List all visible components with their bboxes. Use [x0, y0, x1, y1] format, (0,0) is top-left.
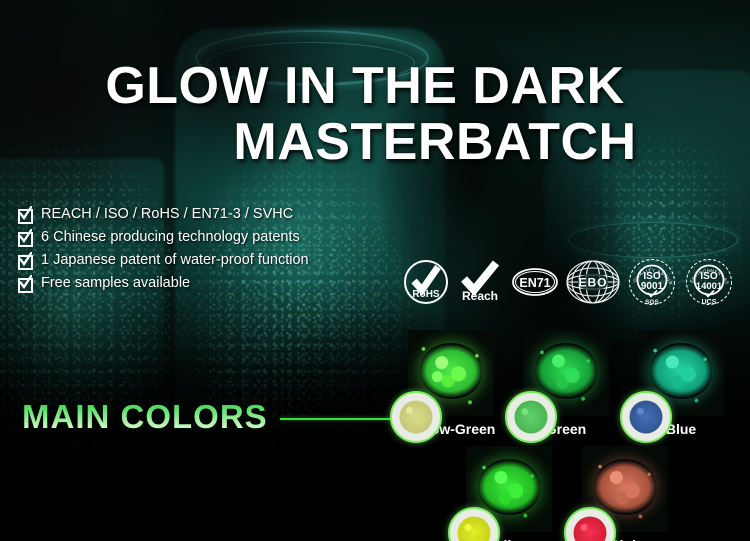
svg-text:Reach: Reach	[462, 289, 498, 303]
svg-text:EN71: EN71	[519, 276, 550, 290]
list-item-label: 6 Chinese producing technology patents	[41, 229, 300, 245]
iso-14001-badge-icon: ENVIRONMENT ASSURANCE ISO 14001 UCS	[684, 257, 734, 312]
pellet-closeup-circle	[390, 391, 442, 443]
svg-text:UCS: UCS	[702, 299, 717, 306]
color-swatch-grid: Yellow-Green Green Blue	[386, 330, 750, 541]
main-colors-heading: MAIN COLORS	[22, 398, 404, 436]
checkbox-checked-icon	[18, 209, 33, 224]
color-swatch-pink[interactable]: Pink	[582, 446, 668, 541]
pellet-closeup-circle	[620, 391, 672, 443]
iso-9001-badge-icon: QUALITY ASSURANCE ISO 9001 SGS	[627, 257, 677, 312]
checkbox-checked-icon	[18, 232, 33, 247]
pellet-closeup-circle	[505, 391, 557, 443]
ebo-badge-icon: EBO	[566, 259, 620, 310]
svg-text:9001: 9001	[641, 281, 664, 292]
color-swatch-green[interactable]: Green	[523, 330, 609, 437]
en71-badge-icon: EN71	[511, 267, 559, 302]
reach-badge-icon: Reach	[456, 259, 504, 310]
color-swatch-yellow-green[interactable]: Yellow-Green	[408, 330, 507, 437]
list-item: Free samples available	[18, 275, 309, 297]
svg-text:SGS: SGS	[645, 299, 659, 306]
list-item-label: 1 Japanese patent of water-proof functio…	[41, 252, 309, 268]
section-title: MAIN COLORS	[22, 398, 268, 436]
rohs-badge-icon: RoHS	[403, 259, 449, 310]
svg-text:RoHS: RoHS	[412, 289, 440, 300]
color-swatch-yellow[interactable]: Yellow	[466, 446, 552, 541]
checkbox-checked-icon	[18, 278, 33, 293]
list-item: 6 Chinese producing technology patents	[18, 229, 309, 251]
list-item: REACH / ISO / RoHS / EN71-3 / SVHC	[18, 206, 309, 228]
list-item: 1 Japanese patent of water-proof functio…	[18, 252, 309, 274]
list-item-label: Free samples available	[41, 275, 190, 291]
certification-badges: RoHS Reach EN71	[403, 257, 734, 312]
color-swatch-blue[interactable]: Blue	[638, 330, 724, 437]
glow-in-the-dark-masterbatch-banner: GLOW IN THE DARK MASTERBATCH REACH / ISO…	[0, 0, 750, 541]
svg-text:EBO: EBO	[578, 276, 607, 290]
list-item-label: REACH / ISO / RoHS / EN71-3 / SVHC	[41, 206, 293, 222]
feature-list: REACH / ISO / RoHS / EN71-3 / SVHC 6 Chi…	[18, 206, 309, 298]
checkbox-checked-icon	[18, 255, 33, 270]
svg-text:14001: 14001	[696, 281, 723, 292]
